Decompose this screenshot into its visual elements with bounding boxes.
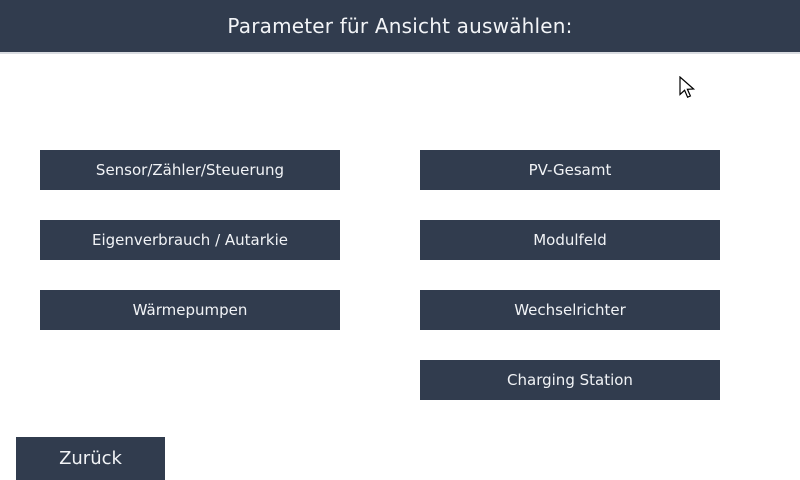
parameter-button-wechselrichter[interactable]: Wechselrichter	[420, 290, 720, 330]
title-bar: Parameter für Ansicht auswählen:	[0, 0, 800, 52]
parameter-button-sensor-zaehler-steuerung[interactable]: Sensor/Zähler/Steuerung	[40, 150, 340, 190]
button-label: Charging Station	[507, 371, 633, 389]
parameter-button-modulfeld[interactable]: Modulfeld	[420, 220, 720, 260]
parameter-button-eigenverbrauch-autarkie[interactable]: Eigenverbrauch / Autarkie	[40, 220, 340, 260]
button-label: Wärmepumpen	[133, 301, 248, 319]
back-button-label: Zurück	[59, 448, 122, 469]
button-label: Modulfeld	[533, 231, 607, 249]
button-label: Sensor/Zähler/Steuerung	[96, 161, 284, 179]
button-label: Eigenverbrauch / Autarkie	[92, 231, 288, 249]
back-button[interactable]: Zurück	[16, 437, 165, 480]
parameter-button-waermepumpen[interactable]: Wärmepumpen	[40, 290, 340, 330]
parameter-button-pv-gesamt[interactable]: PV-Gesamt	[420, 150, 720, 190]
page-title: Parameter für Ansicht auswählen:	[227, 16, 572, 36]
button-label: PV-Gesamt	[529, 161, 612, 179]
button-label: Wechselrichter	[514, 301, 626, 319]
parameter-button-charging-station[interactable]: Charging Station	[420, 360, 720, 400]
parameter-selection-panel: Sensor/Zähler/Steuerung Eigenverbrauch /…	[0, 54, 800, 480]
